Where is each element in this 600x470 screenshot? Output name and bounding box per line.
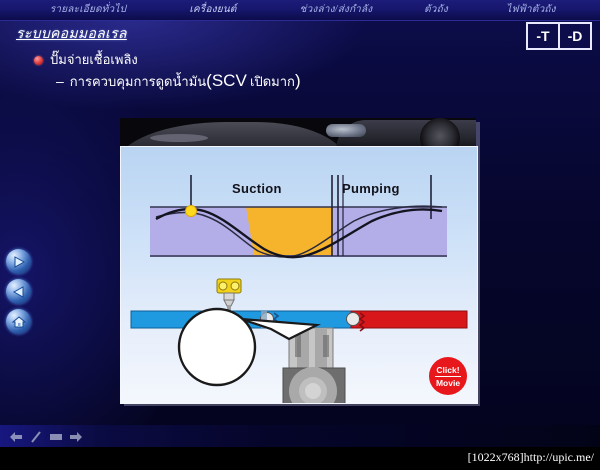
home-icon[interactable] (6, 309, 31, 334)
d-button[interactable]: -D (560, 22, 592, 50)
forward-arrow-glyph (12, 255, 26, 269)
t-button[interactable]: -T (526, 22, 560, 50)
click-movie-separator (435, 376, 461, 377)
navigation-icon-rail (6, 249, 34, 339)
scv-valve-icon (217, 279, 241, 312)
previous-slide-glyph (9, 431, 23, 443)
bullet-level2-scv: SCV (212, 71, 247, 90)
t-button-label: -T (536, 28, 549, 44)
chart-label-suction: Suction (232, 181, 282, 196)
forward-arrow-icon[interactable] (6, 249, 31, 274)
plunger-spring-left (295, 335, 301, 357)
cam-ring-inner (305, 383, 321, 399)
cam-profile-chart: Suction Pumping (146, 159, 451, 269)
cam-profile-svg (146, 159, 451, 269)
source-label: http://upic.me/ (524, 450, 594, 464)
footer-bar: [1022x768]http://upic.me/ (0, 447, 600, 470)
bullet-level2-thai-a: การควบคุมการดูดน้ำมัน (70, 74, 206, 89)
bullet-level2-paren-close: ) (295, 71, 301, 90)
chart-label-pumping: Pumping (342, 181, 400, 196)
bullet-level2-thai-b: เปิดมาก (250, 74, 295, 89)
back-arrow-icon[interactable] (6, 279, 31, 304)
nav-tab-general[interactable]: รายละเอียดทั่วไป (18, 0, 158, 20)
bullet-dash-icon: – (56, 73, 64, 89)
plunger-spring-right (323, 335, 329, 357)
presentation-window: รายละเอียดทั่วไป เครื่องยนต์ ช่วงล่าง/ส่… (0, 0, 600, 470)
car-silhouette-icon (120, 122, 346, 146)
menu-glyph (49, 431, 63, 443)
nav-tab-body[interactable]: ตัวถัง (396, 0, 476, 20)
page-title: ระบบคอมมอลเรล (16, 23, 127, 45)
suction-fill-region (246, 207, 334, 255)
home-glyph (12, 315, 26, 329)
nav-tab-body-label: ตัวถัง (424, 4, 448, 15)
content-panel: Suction Pumping (120, 146, 478, 404)
pen-icon[interactable] (29, 430, 43, 442)
bottom-toolbar (0, 425, 600, 447)
title-row: ระบบคอมมอลเรล -T -D (0, 20, 600, 50)
bullet-marker-icon (34, 56, 43, 65)
pump-mechanism-diagram (121, 273, 477, 403)
footer-caption: [1022x768]http://upic.me/ (468, 450, 594, 465)
resolution-label: [1022x768] (468, 450, 524, 464)
car-window-icon (150, 134, 208, 142)
top-navigation-bar: รายละเอียดทั่วไป เครื่องยนต์ ช่วงล่าง/ส่… (0, 0, 600, 21)
back-arrow-glyph (12, 285, 26, 299)
pump-mechanism-svg (121, 273, 477, 403)
menu-icon[interactable] (49, 430, 63, 442)
plunger-start-marker-icon (186, 206, 197, 217)
bullet-list: ปั๊มจ่ายเชื้อเพลิง – การควบคุมการดูดน้ำม… (34, 52, 464, 92)
click-movie-line2: Movie (436, 378, 460, 388)
bullet-level2-label: การควบคุมการดูดน้ำมัน(SCV เปิดมาก) (70, 71, 301, 92)
click-movie-button[interactable]: Click! Movie (429, 357, 467, 395)
nav-tab-general-label: รายละเอียดทั่วไป (50, 4, 126, 15)
car-headlight-icon (326, 124, 366, 137)
td-button-group: -T -D (526, 22, 592, 50)
bullet-item-level2: – การควบคุมการดูดน้ำมัน(SCV เปิดมาก) (56, 71, 464, 92)
previous-slide-icon[interactable] (9, 430, 23, 442)
nav-tab-chassis-drivetrain-label: ช่วงล่าง/ส่งกำลัง (300, 4, 373, 15)
nav-tab-body-electrical[interactable]: ไฟฟ้าตัวถัง (476, 0, 586, 20)
bullet-item-level1: ปั๊มจ่ายเชื้อเพลิง (34, 52, 464, 68)
nav-tab-chassis-drivetrain[interactable]: ช่วงล่าง/ส่งกำลัง (272, 0, 400, 20)
high-pressure-rail (351, 311, 467, 328)
bullet-level1-label: ปั๊มจ่ายเชื้อเพลิง (50, 52, 138, 68)
pen-glyph (29, 431, 43, 443)
next-slide-glyph (69, 431, 83, 443)
click-movie-line1: Click! (436, 365, 459, 375)
slide-canvas: รายละเอียดทั่วไป เครื่องยนต์ ช่วงล่าง/ส่… (0, 0, 600, 440)
d-button-label: -D (568, 28, 583, 44)
nav-tab-engine-label: เครื่องยนต์ (189, 4, 236, 15)
nav-tab-body-electrical-label: ไฟฟ้าตัวถัง (506, 4, 555, 15)
car-photo-strip (120, 118, 476, 146)
next-slide-icon[interactable] (69, 430, 83, 442)
nav-tab-engine[interactable]: เครื่องยนต์ (158, 0, 268, 20)
